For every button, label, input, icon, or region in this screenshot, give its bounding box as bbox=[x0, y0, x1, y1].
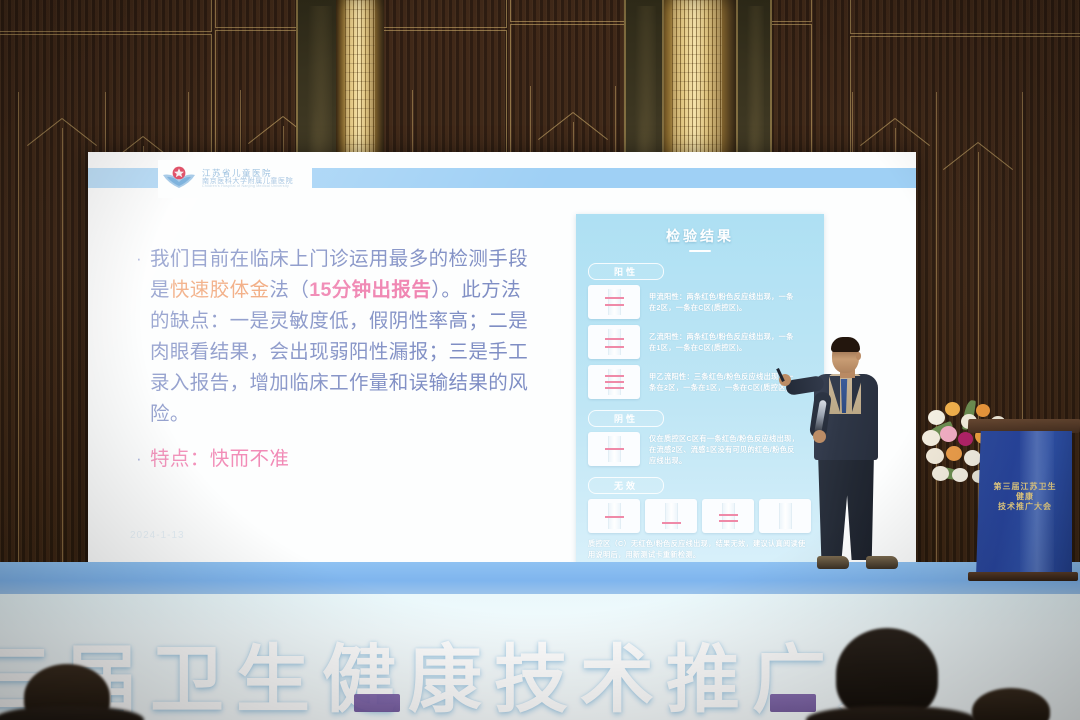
strip-line bbox=[605, 387, 624, 389]
test-strip-card bbox=[588, 285, 640, 319]
speaker-hand-right bbox=[813, 430, 826, 443]
flower-blossom bbox=[958, 432, 973, 446]
test-strip-card bbox=[588, 365, 640, 399]
result-panel-title: 检验结果 bbox=[576, 214, 824, 246]
test-strip-card bbox=[588, 499, 640, 533]
result-tag-negative: 阴性 bbox=[588, 410, 664, 427]
wall-panel-frame bbox=[850, 0, 1080, 34]
speaker-shoe-right bbox=[866, 556, 898, 569]
test-strip bbox=[608, 369, 621, 395]
result-tag-invalid: 无效 bbox=[588, 477, 664, 494]
podium-text: 第三届江苏卫生健康 技术推广大会 bbox=[992, 482, 1058, 512]
podium-text-line1: 第三届江苏卫生健康 bbox=[994, 482, 1057, 501]
test-strip-card bbox=[588, 432, 640, 466]
strip-line bbox=[605, 346, 624, 348]
banner-badge bbox=[770, 694, 816, 712]
test-strip-card bbox=[759, 499, 811, 533]
bullet-seg-highlight-orange: 快速胶体金 bbox=[170, 279, 270, 301]
flower-blossom bbox=[946, 446, 962, 461]
bullet-text: 我们目前在临床上门诊运用最多的检测手段是快速胶体金法（15分钟出报告）。此方法的… bbox=[150, 244, 536, 430]
result-row-text: 乙流阳性：两条红色/粉色反应线出现，一条在1区，一条在C区(质控区)。 bbox=[649, 331, 801, 353]
strip-line bbox=[605, 304, 624, 306]
speaker-lapel-left bbox=[829, 376, 840, 412]
flower-blossom bbox=[922, 430, 940, 446]
strip-line bbox=[605, 381, 624, 383]
test-strip bbox=[779, 503, 792, 529]
test-strip-card bbox=[588, 325, 640, 359]
podium-text-line2: 技术推广大会 bbox=[998, 502, 1052, 511]
speaker-ear bbox=[856, 352, 861, 360]
result-row-text: 仅在质控区C区有一条红色/粉色反应线出现，在流感2区、流感1区没有可见的红色/粉… bbox=[649, 433, 801, 466]
slide-bullet: · 特点：快而不准 bbox=[136, 444, 536, 475]
flower-blossom bbox=[928, 410, 945, 425]
strip-line bbox=[719, 514, 738, 516]
hospital-logo-icon bbox=[162, 166, 196, 192]
slide-bullet: · 我们目前在临床上门诊运用最多的检测手段是快速胶体金法（15分钟出报告）。此方… bbox=[136, 244, 536, 430]
logo-english-line: Children's Hospital of Nanjing Medical U… bbox=[202, 185, 293, 189]
test-strip bbox=[608, 289, 621, 315]
test-strip bbox=[608, 329, 621, 355]
strip-line bbox=[662, 522, 681, 524]
invalid-strip-row bbox=[588, 499, 824, 533]
flower-blossom bbox=[926, 448, 944, 464]
podium-base bbox=[968, 572, 1078, 581]
stage-front-band bbox=[0, 562, 1080, 596]
flower-blossom bbox=[964, 450, 981, 466]
flower-blossom bbox=[976, 404, 990, 417]
flower-blossom bbox=[952, 468, 968, 482]
speaker-shoe-left bbox=[817, 556, 849, 569]
slide-date: 2024-1-13 bbox=[130, 530, 185, 541]
result-row: 甲流阳性：两条红色/粉色反应线出现，一条在2区，一条在C区(质控区)。 bbox=[588, 285, 824, 319]
result-row-text: 甲流阳性：两条红色/粉色反应线出现，一条在2区，一条在C区(质控区)。 bbox=[649, 291, 801, 313]
result-row: 乙流阳性：两条红色/粉色反应线出现，一条在1区，一条在C区(质控区)。 bbox=[588, 325, 824, 359]
strip-line bbox=[605, 375, 624, 377]
bullet-marker: · bbox=[136, 444, 150, 475]
wall-line-drop bbox=[936, 92, 937, 594]
logo-name-line: 江苏省儿童医院 bbox=[202, 169, 293, 178]
test-strip bbox=[722, 503, 735, 529]
flower-blossom bbox=[945, 402, 960, 416]
flower-blossom bbox=[940, 426, 957, 442]
strip-line bbox=[605, 297, 624, 299]
result-tag-positive: 阳性 bbox=[588, 263, 664, 280]
wall-line-drop bbox=[18, 92, 19, 594]
speaker-hair bbox=[831, 337, 860, 352]
result-panel-title-underline bbox=[689, 250, 711, 252]
conference-photo-scene: 江苏省儿童医院 南京医科大学附属儿童医院 Children's Hospital… bbox=[0, 0, 1080, 720]
hospital-logo: 江苏省儿童医院 南京医科大学附属儿童医院 Children's Hospital… bbox=[158, 160, 312, 198]
test-strip-card bbox=[645, 499, 697, 533]
bullet-seg: 法（ bbox=[269, 279, 309, 301]
wall-line-drop bbox=[62, 128, 63, 594]
strip-line bbox=[605, 338, 624, 340]
bullet-text: 特点：快而不准 bbox=[150, 444, 289, 475]
slide-text-column: · 我们目前在临床上门诊运用最多的检测手段是快速胶体金法（15分钟出报告）。此方… bbox=[136, 244, 536, 489]
flower-blossom bbox=[932, 466, 949, 481]
result-row: 仅在质控区C区有一条红色/粉色反应线出现，在流感2区、流感1区没有可见的红色/粉… bbox=[588, 432, 824, 466]
strip-line bbox=[605, 448, 624, 450]
test-strip bbox=[608, 436, 621, 462]
wall-panel-frame bbox=[0, 0, 212, 32]
test-strip bbox=[608, 503, 621, 529]
strip-line bbox=[719, 520, 738, 522]
banner-badge bbox=[354, 694, 400, 712]
projection-screen: 江苏省儿童医院 南京医科大学附属儿童医院 Children's Hospital… bbox=[88, 152, 916, 570]
test-strip-card bbox=[702, 499, 754, 533]
bullet-marker: · bbox=[136, 244, 150, 430]
invalid-footnote: 质控区（C）无红色/粉色反应线出现，结果无效，建议认真阅读使用说明后，用新测试卡… bbox=[588, 538, 812, 560]
hospital-logo-text: 江苏省儿童医院 南京医科大学附属儿童医院 Children's Hospital… bbox=[202, 169, 293, 189]
strip-line bbox=[605, 516, 624, 518]
speaker-lapel-right bbox=[852, 376, 863, 412]
test-strip bbox=[665, 503, 678, 529]
bullet-seg-highlight-pink: 15分钟出报告 bbox=[309, 279, 431, 301]
